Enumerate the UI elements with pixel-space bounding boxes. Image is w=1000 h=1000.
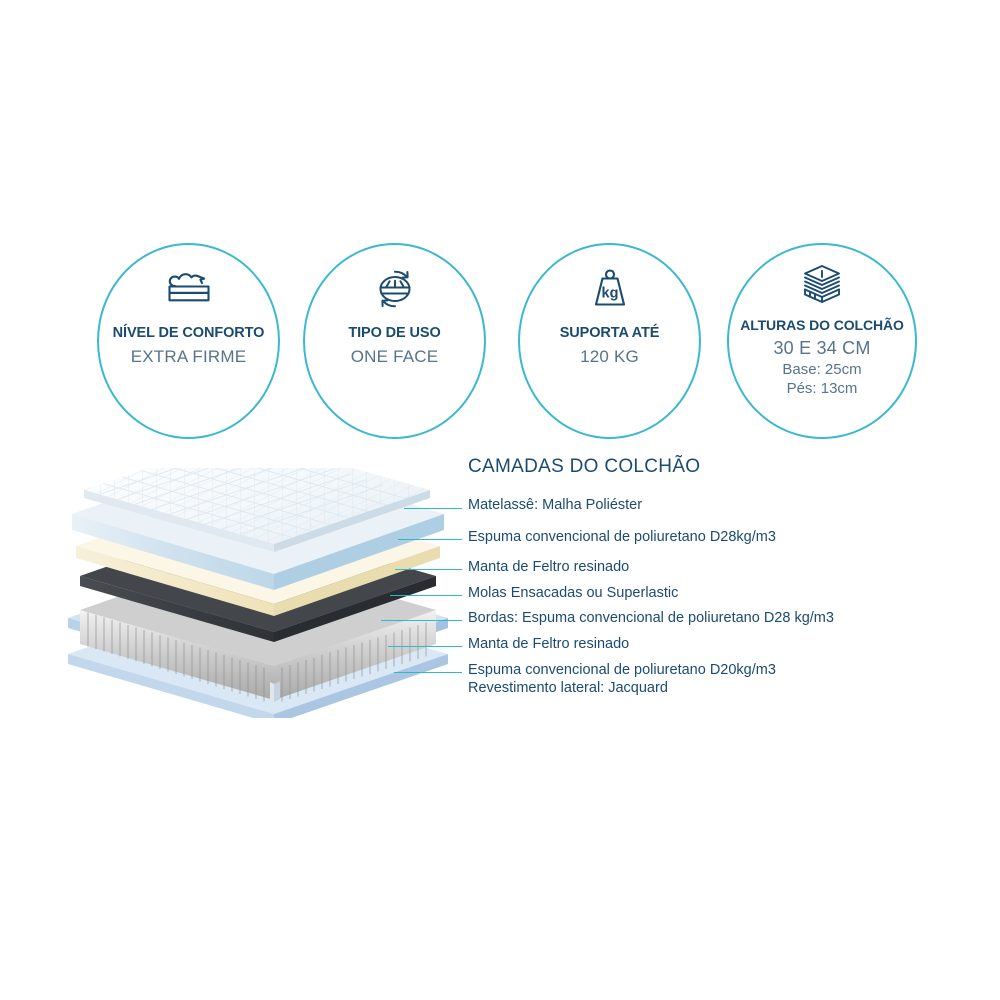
person-on-mattress-icon: [163, 264, 215, 314]
weight-icon-label: kg: [601, 286, 618, 302]
layer-label-matelasse: Matelassê: Malha Poliéster: [468, 498, 642, 513]
leader-line-borders: [381, 620, 462, 621]
badge-value: EXTRA FIRME: [131, 347, 247, 367]
layer-label-jacquard: Revestimento lateral: Jacquard: [468, 681, 668, 696]
badge-max-weight: kg SUPORTA ATÉ 120 KG: [518, 243, 701, 439]
badge-title: NÍVEL DE CONFORTO: [113, 325, 265, 341]
leader-line-foam-d20: [394, 672, 462, 673]
badge-usage-type: TIPO DE USO ONE FACE: [303, 243, 486, 439]
mattress-rotation-icon: [370, 264, 420, 314]
badge-title: TIPO DE USO: [348, 325, 440, 341]
badge-value: 120 KG: [580, 347, 639, 367]
page-title: CAMADAS DO COLCHÃO: [468, 456, 700, 478]
feature-badge-row: NÍVEL DE CONFORTO EXTRA FIRME TIP: [0, 243, 1000, 439]
leader-line-matelasse: [404, 508, 462, 509]
badge-value: ONE FACE: [351, 347, 439, 367]
badge-title: ALTURAS DO COLCHÃO: [740, 317, 904, 333]
leader-line-felt-top: [395, 569, 462, 570]
leader-line-felt-bottom: [388, 646, 462, 647]
badge-value: 30 E 34 CM: [773, 338, 870, 359]
layer-label-felt-top: Manta de Feltro resinado: [468, 560, 629, 575]
badge-sub-base: Base: 25cm: [782, 361, 861, 378]
stacked-layers-icon: [796, 261, 848, 309]
layer-label-foam-d28: Espuma convencional de poliuretano D28kg…: [468, 530, 776, 545]
badge-sub-feet: Pés: 13cm: [787, 380, 858, 397]
badge-mattress-heights: ALTURAS DO COLCHÃO 30 E 34 CM Base: 25cm…: [727, 243, 917, 439]
weight-kg-icon: kg: [587, 264, 633, 314]
layer-label-springs: Molas Ensacadas ou Superlastic: [468, 586, 678, 601]
leader-line-foam-d28: [398, 539, 462, 540]
exploded-mattress-diagram: [58, 468, 458, 718]
layer-label-foam-d20: Espuma convencional de poliuretano D20kg…: [468, 663, 776, 678]
leader-line-springs: [390, 595, 462, 596]
layer-label-borders: Bordas: Espuma convencional de poliureta…: [468, 611, 834, 626]
badge-comfort-level: NÍVEL DE CONFORTO EXTRA FIRME: [97, 243, 280, 439]
badge-title: SUPORTA ATÉ: [560, 325, 660, 341]
layer-label-felt-bottom: Manta de Feltro resinado: [468, 637, 629, 652]
